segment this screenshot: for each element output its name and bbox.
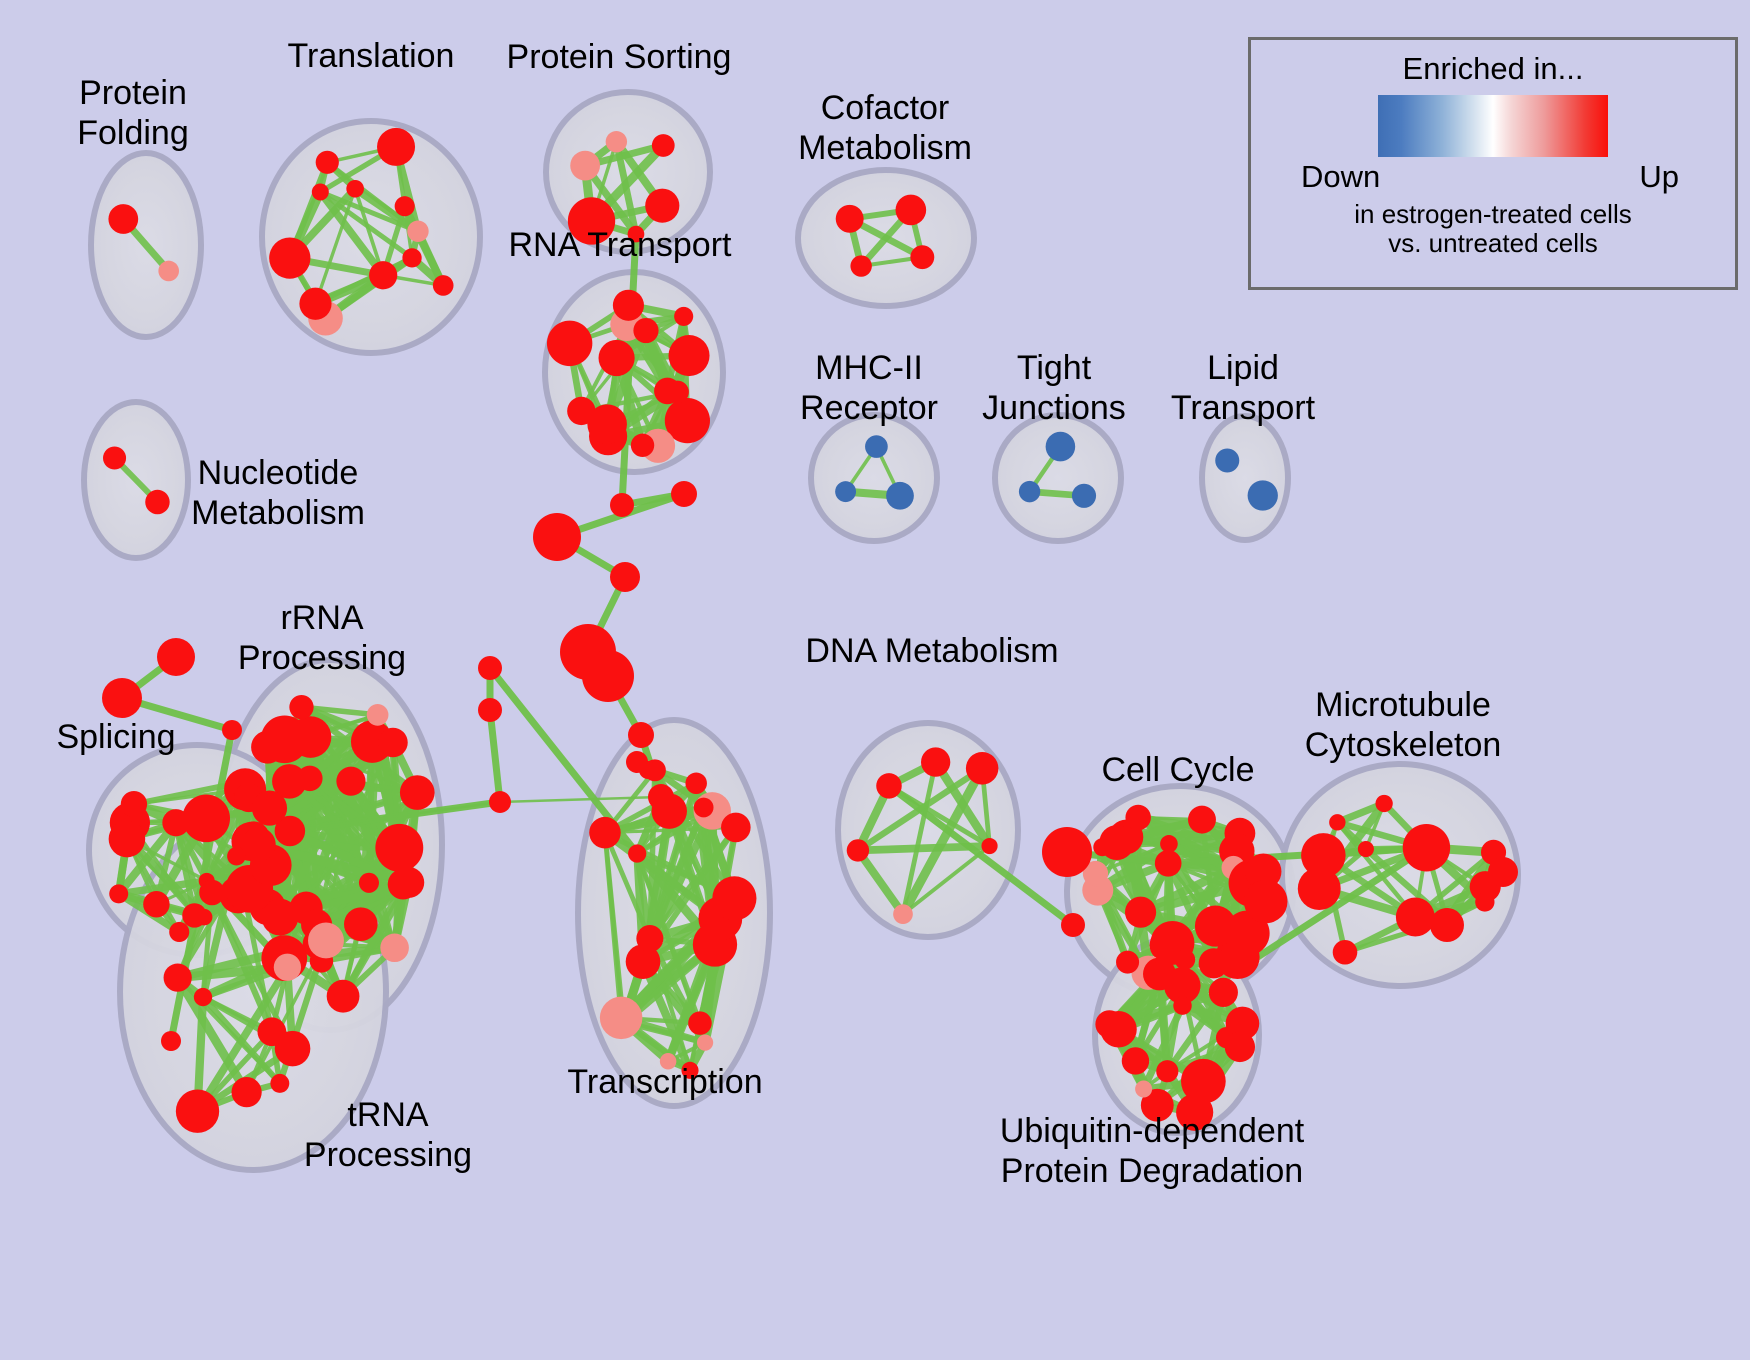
network-node	[1046, 432, 1076, 462]
network-node	[378, 728, 408, 758]
network-node	[1156, 1060, 1178, 1082]
network-node	[433, 275, 454, 296]
network-node	[893, 904, 913, 924]
cluster-label: Protein Sorting	[507, 38, 732, 76]
network-node	[648, 784, 674, 810]
network-node	[1329, 814, 1345, 830]
cluster-label: RNA Transport	[509, 226, 733, 264]
network-node	[1375, 795, 1392, 812]
network-node	[1475, 892, 1494, 911]
network-node	[1125, 805, 1151, 831]
network-node	[668, 335, 709, 376]
network-node	[1135, 1080, 1152, 1097]
legend-caption-line-1: in estrogen-treated cells	[1251, 199, 1735, 230]
network-node	[1125, 897, 1156, 928]
cluster-label: Cell Cycle	[1101, 751, 1254, 789]
network-node	[108, 204, 138, 234]
network-node	[639, 761, 657, 779]
network-node	[628, 844, 646, 862]
network-node	[346, 180, 364, 198]
network-node	[157, 638, 195, 676]
network-node	[308, 922, 344, 958]
network-node	[966, 752, 999, 785]
network-node	[176, 1090, 219, 1133]
network-node	[1042, 827, 1092, 877]
network-node	[697, 1035, 713, 1051]
network-node	[143, 891, 169, 917]
network-node	[876, 773, 902, 799]
network-node	[886, 482, 914, 510]
network-node	[231, 1077, 261, 1107]
network-node	[1333, 940, 1358, 965]
network-node	[257, 1017, 286, 1046]
network-node	[1188, 806, 1216, 834]
network-node	[628, 722, 654, 748]
network-node	[1248, 480, 1278, 510]
network-node	[109, 884, 128, 903]
network-node	[865, 435, 888, 458]
network-node	[400, 775, 435, 810]
network-node	[645, 189, 679, 223]
network-node	[478, 698, 502, 722]
network-node	[1173, 996, 1191, 1014]
network-node	[712, 876, 756, 920]
legend-panel: Enriched in... Down Up in estrogen-treat…	[1248, 37, 1738, 290]
network-node	[921, 747, 950, 776]
network-node	[633, 318, 658, 343]
network-node	[1358, 841, 1374, 857]
network-node	[359, 873, 379, 893]
network-node	[599, 340, 635, 376]
network-node	[336, 767, 365, 796]
network-node	[694, 798, 714, 818]
cluster-label: Transcription	[567, 1063, 762, 1101]
network-node	[666, 381, 689, 404]
network-node	[606, 131, 627, 152]
network-node	[274, 954, 301, 981]
network-node	[850, 255, 871, 276]
legend-title: Enriched in...	[1251, 51, 1735, 87]
network-node	[1430, 908, 1464, 942]
network-node	[395, 196, 415, 216]
network-node	[589, 817, 621, 849]
network-node	[402, 248, 421, 267]
network-node	[1122, 1047, 1149, 1074]
network-node	[582, 650, 634, 702]
network-node	[121, 791, 147, 817]
network-node	[299, 288, 331, 320]
network-node	[674, 307, 693, 326]
cluster-label: DNA Metabolism	[805, 632, 1058, 670]
network-node	[636, 925, 663, 952]
network-node	[600, 997, 643, 1040]
network-node	[570, 151, 600, 181]
network-node	[671, 481, 697, 507]
network-node	[161, 1031, 181, 1051]
network-node	[252, 790, 287, 825]
network-node	[688, 1011, 712, 1035]
network-node	[369, 261, 397, 289]
network-node	[109, 821, 146, 858]
legend-low-label: Down	[1301, 159, 1380, 195]
network-node	[297, 766, 323, 792]
cluster-ellipse	[811, 415, 937, 541]
network-node	[1209, 978, 1238, 1007]
network-node	[1061, 913, 1085, 937]
network-node	[652, 134, 675, 157]
network-node	[489, 791, 511, 813]
network-node	[910, 245, 934, 269]
network-node	[836, 205, 864, 233]
network-node	[1100, 1011, 1136, 1047]
network-node	[312, 183, 329, 200]
network-node	[316, 151, 339, 174]
network-node	[194, 988, 212, 1006]
network-node	[164, 964, 192, 992]
network-node	[242, 827, 276, 861]
network-node	[269, 237, 310, 278]
network-node	[407, 221, 428, 242]
network-node	[344, 907, 378, 941]
network-node	[1160, 835, 1178, 853]
network-node	[721, 813, 751, 843]
network-node	[261, 715, 309, 763]
network-node	[1396, 898, 1435, 937]
cluster-label: Splicing	[56, 718, 175, 756]
network-node	[199, 880, 225, 906]
network-node	[1301, 833, 1346, 878]
legend-high-label: Up	[1639, 159, 1679, 195]
network-node	[367, 704, 389, 726]
network-node	[222, 720, 242, 740]
network-node	[610, 493, 634, 517]
network-node	[981, 838, 997, 854]
network-node	[610, 562, 640, 592]
network-node	[1403, 824, 1450, 871]
network-node	[102, 678, 142, 718]
network-node	[478, 656, 502, 680]
network-node	[1215, 448, 1239, 472]
network-node	[1244, 880, 1288, 924]
network-node	[1152, 961, 1169, 978]
network-node	[158, 261, 179, 282]
network-node	[270, 1074, 289, 1093]
cluster-ellipse	[1202, 416, 1288, 540]
network-node	[896, 195, 927, 226]
network-node	[388, 869, 419, 900]
network-node	[631, 434, 654, 457]
color-scale-bar	[1378, 95, 1608, 157]
network-node	[145, 490, 169, 514]
network-node	[1225, 1032, 1255, 1062]
network-node	[613, 290, 644, 321]
network-node	[1116, 951, 1139, 974]
network-node	[1099, 825, 1134, 860]
network-node	[377, 128, 415, 166]
network-node	[567, 397, 595, 425]
network-node	[1175, 949, 1196, 970]
network-node	[196, 909, 213, 926]
network-node	[685, 773, 706, 794]
network-node	[1072, 484, 1096, 508]
network-node	[169, 922, 189, 942]
network-node	[1195, 906, 1236, 947]
network-node	[182, 795, 230, 843]
network-node	[533, 513, 581, 561]
network-node	[835, 481, 856, 502]
network-node	[103, 446, 126, 469]
network-node	[547, 321, 592, 366]
legend-endpoint-labels: Down Up	[1251, 159, 1735, 201]
network-node	[847, 839, 869, 861]
network-node	[327, 980, 360, 1013]
network-node	[375, 824, 423, 872]
enrichment-map-figure: ProteinFoldingTranslationProtein Sorting…	[0, 0, 1750, 1360]
network-node	[1155, 850, 1182, 877]
cluster-label: Translation	[288, 37, 455, 75]
legend-caption-line-2: vs. untreated cells	[1251, 228, 1735, 259]
network-node	[289, 695, 313, 719]
network-node	[1488, 857, 1518, 887]
network-node	[1019, 481, 1040, 502]
network-node	[1199, 948, 1229, 978]
network-node	[380, 933, 409, 962]
